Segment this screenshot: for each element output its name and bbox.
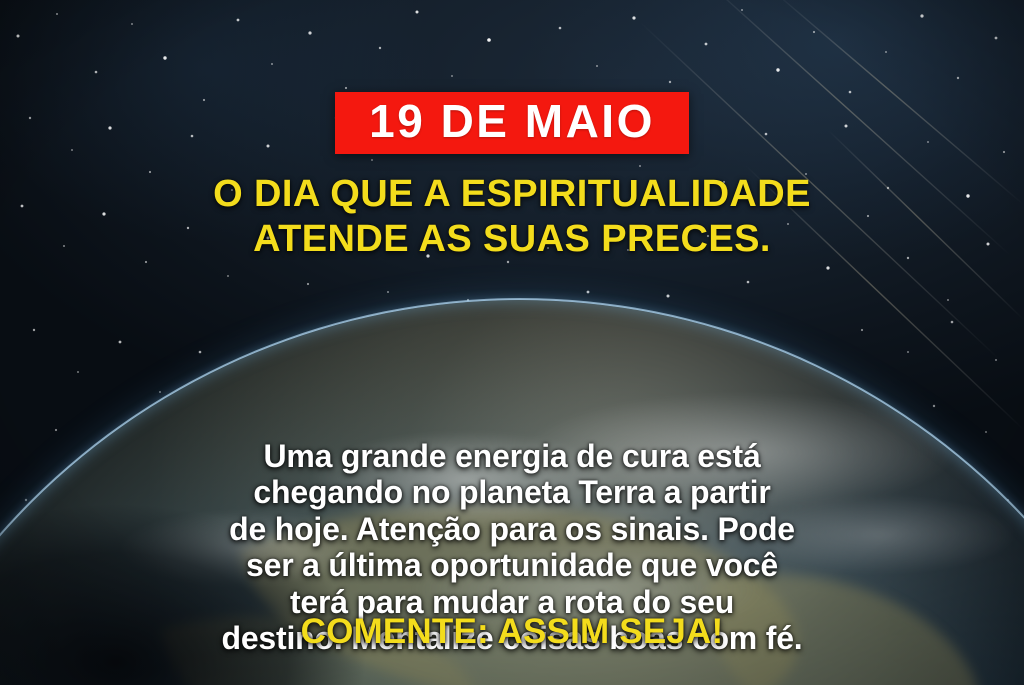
body-line-4: ser a última oportunidade que você [0,547,1024,583]
date-banner-text: 19 DE MAIO [369,98,655,144]
body-line-3: de hoje. Atenção para os sinais. Pode [0,511,1024,547]
date-banner: 19 DE MAIO [335,92,689,154]
body-line-2: chegando no planeta Terra a partir [0,474,1024,510]
call-to-action-text: COMENTE: ASSIM SEJA! [0,612,1024,652]
poster-canvas: 19 DE MAIO O DIA QUE A ESPIRITUALIDADE A… [0,0,1024,685]
body-line-1: Uma grande energia de cura está [0,438,1024,474]
headline-line-1: O DIA QUE A ESPIRITUALIDADE [213,172,811,217]
headline-line-2: ATENDE AS SUAS PRECES. [213,217,811,262]
headline: O DIA QUE A ESPIRITUALIDADE ATENDE AS SU… [213,172,811,262]
poster-content: 19 DE MAIO O DIA QUE A ESPIRITUALIDADE A… [0,0,1024,685]
